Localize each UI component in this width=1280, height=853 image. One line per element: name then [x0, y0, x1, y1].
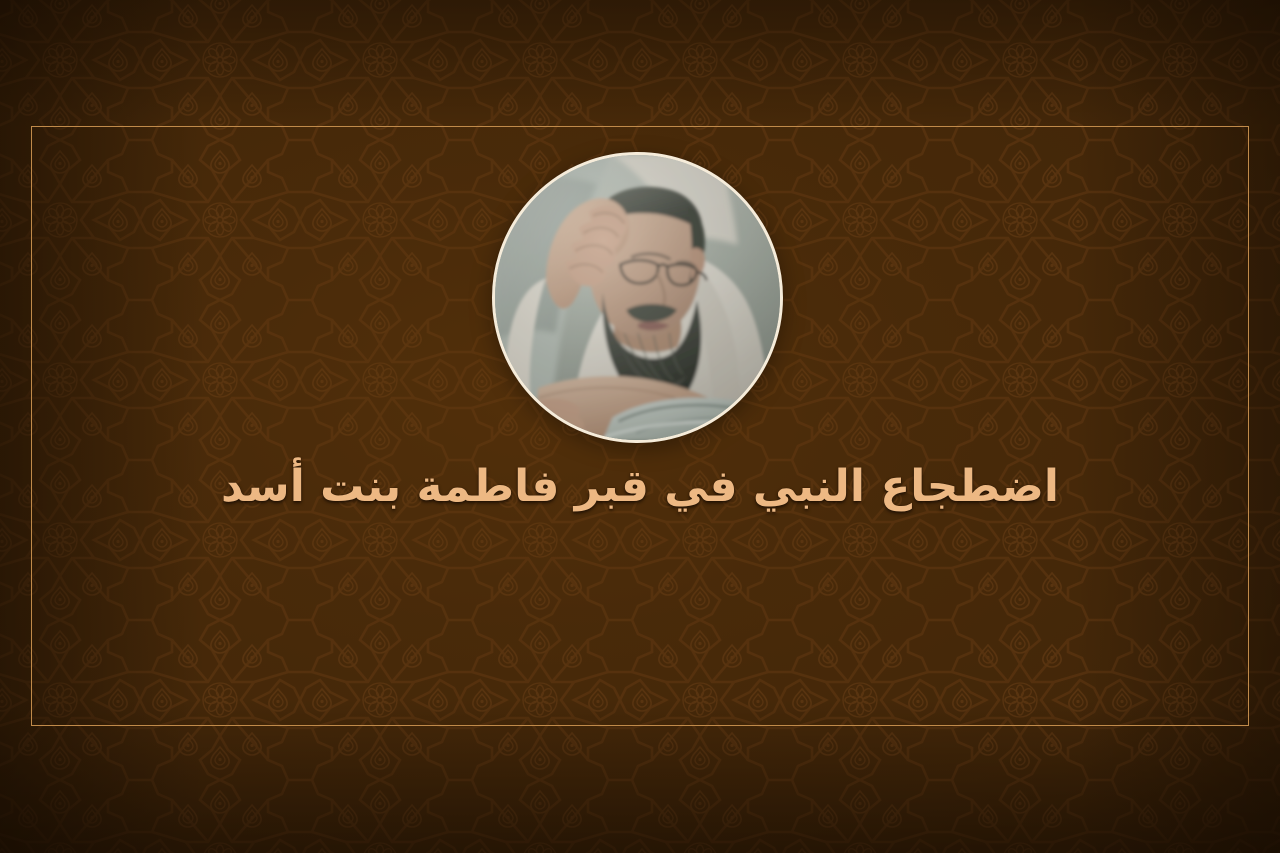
slide-title: اضطجاع النبي في قبر فاطمة بنت أسد	[0, 455, 1280, 519]
slide-canvas: اضطجاع النبي في قبر فاطمة بنت أسد	[0, 0, 1280, 853]
portrait-avatar	[492, 152, 783, 443]
portrait-image	[495, 155, 780, 440]
